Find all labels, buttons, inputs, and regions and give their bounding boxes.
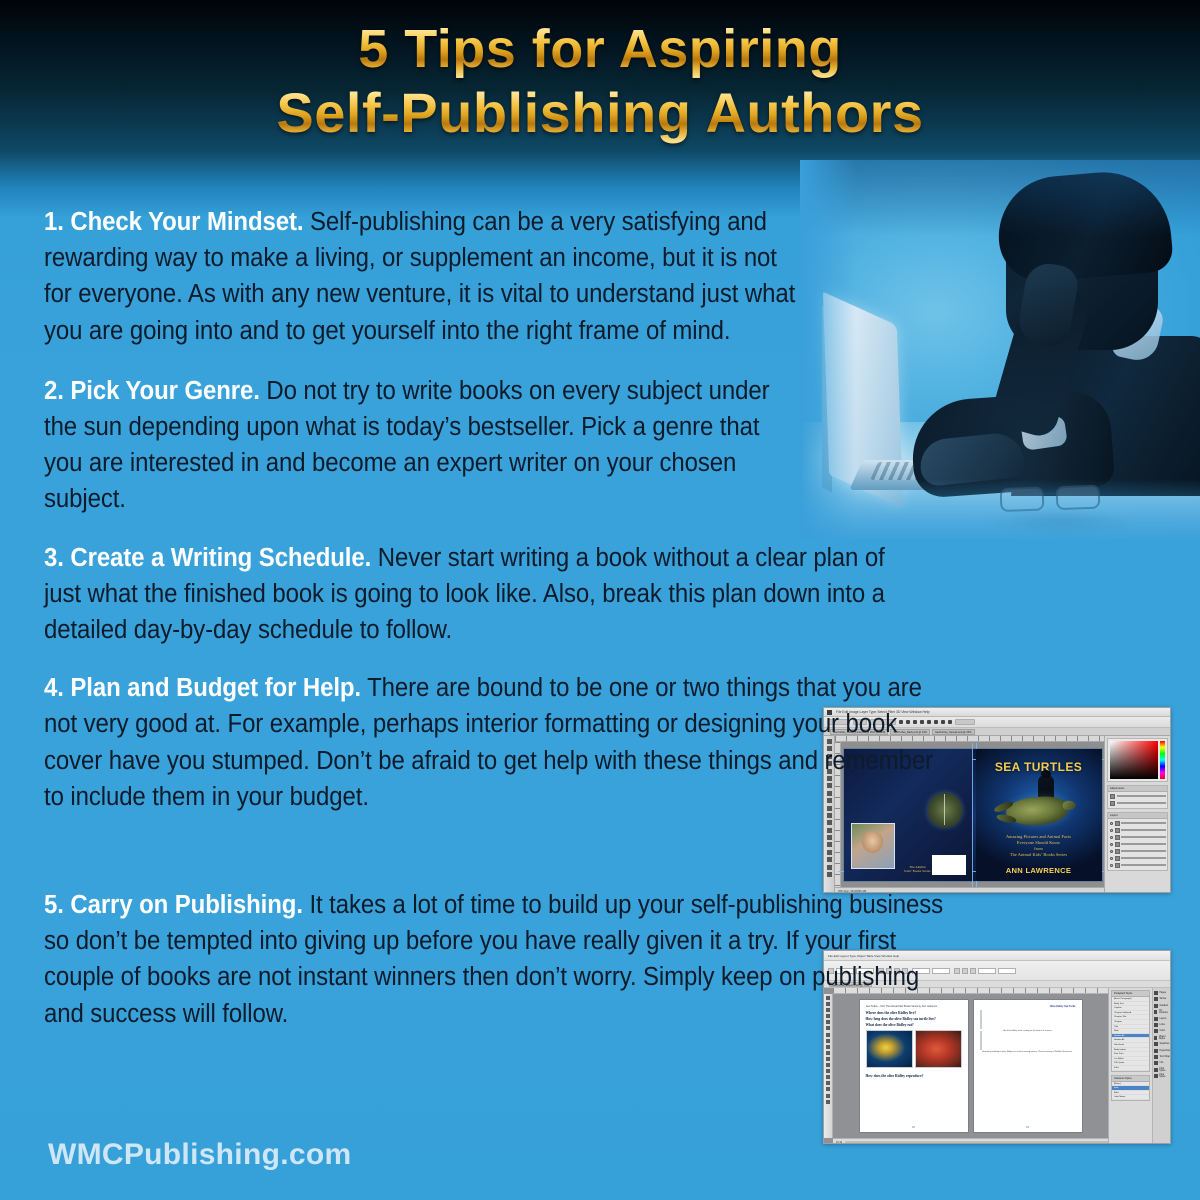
gradient-swatch-tool-icon[interactable] (826, 1075, 830, 1079)
eye-icon[interactable] (1110, 822, 1113, 825)
adjustment-name (1117, 802, 1167, 804)
layer-thumbnail (1115, 849, 1120, 854)
layer-name (1121, 829, 1166, 831)
dock-item-gradient[interactable]: Gradient (1153, 1004, 1170, 1008)
tip-item-4: 4. Plan and Budget for Help. There are b… (44, 670, 1014, 815)
layer-name (1121, 850, 1166, 852)
tip-3-heading: 3. Create a Writing Schedule. (44, 544, 371, 572)
layer-row[interactable] (1109, 862, 1166, 868)
adjustments-panel[interactable]: Adjustments (1107, 785, 1168, 809)
hyperlinks-icon (1154, 1049, 1158, 1053)
tip-item-2: 2. Pick Your Genre. Do not try to write … (44, 373, 1014, 518)
dock-item-hyperlinks[interactable]: Hyperlinks (1153, 1049, 1170, 1053)
tip-4-heading: 4. Plan and Budget for Help. (44, 674, 361, 702)
layer-thumbnail (1115, 863, 1120, 868)
tip-item-5: 5. Carry on Publishing. It takes a lot o… (44, 887, 1014, 1032)
dock-item-pages[interactable]: Pages (1153, 991, 1170, 995)
right-page-number: 19 (974, 1126, 1082, 1129)
layout-icon-dock[interactable]: Pages Stroke Gradient CC Libraries Layer… (1152, 988, 1170, 1144)
layer-thumbnail (1115, 856, 1120, 861)
adjustment-row[interactable] (1109, 800, 1166, 806)
layer-name (1121, 864, 1166, 866)
layers-icon (1154, 1017, 1158, 1021)
eye-icon[interactable] (1110, 857, 1113, 860)
left-page-heading-4: How does the olive Ridley reproduce? (866, 1074, 962, 1078)
paragraph-styles-panel[interactable]: Paragraph Styles [Basic Paragraph] Body … (1111, 990, 1150, 1072)
layer-name (1121, 843, 1166, 845)
dock-label: Gradient (1160, 1005, 1169, 1007)
dock-item-text-wrap[interactable]: Text Wrap (1153, 1055, 1170, 1059)
tip-item-3: 3. Create a Writing Schedule. Never star… (44, 540, 1014, 649)
layout-panel-column: Paragraph Styles [Basic Paragraph] Body … (1109, 988, 1152, 1144)
left-page-number: 18 (860, 1126, 968, 1129)
eyedropper-tool-icon[interactable] (826, 1087, 830, 1091)
tip-2-text: 2. Pick Your Genre. Do not try to write … (44, 373, 787, 518)
eye-icon[interactable] (1110, 864, 1113, 867)
dock-label: Pages (1160, 992, 1167, 994)
adjustment-name (1117, 795, 1167, 797)
left-page-image-caption (866, 1070, 962, 1072)
para-styles-icon (1154, 1074, 1158, 1078)
dock-item-object-styles[interactable]: Object Styles (1153, 1036, 1170, 1040)
adjustment-row[interactable] (1109, 793, 1166, 799)
text-wrap-icon (1154, 1055, 1158, 1059)
layer-thumbnail (1115, 828, 1120, 833)
paragraph-style-row[interactable]: Folio (1112, 1066, 1149, 1071)
layer-thumbnail (1115, 821, 1120, 826)
adjustment-thumb (1110, 794, 1115, 799)
dock-item-para-styles[interactable]: Para Styles (1153, 1074, 1170, 1078)
dock-item-color[interactable]: Color (1153, 1029, 1170, 1033)
layers-rows (1108, 819, 1167, 870)
tip-5-text: 5. Carry on Publishing. It takes a lot o… (44, 887, 956, 1032)
info-icon (1154, 1061, 1158, 1065)
tip-item-1: 1. Check Your Mindset. Self-publishing c… (44, 204, 1014, 349)
page-title: 5 Tips for Aspiring Self-Publishing Auth… (0, 18, 1200, 146)
title-line-1: 5 Tips for Aspiring (0, 18, 1200, 81)
color-picker-panel[interactable] (1107, 738, 1168, 782)
character-styles-panel[interactable]: Character Styles [None] Italic Bold Lati… (1111, 1075, 1150, 1101)
layers-panel[interactable]: Layers (1107, 812, 1168, 871)
dock-label: Layers (1160, 1018, 1167, 1020)
dock-item-char-styles[interactable]: Char Styles (1153, 1068, 1170, 1072)
layout-panel-dock: Paragraph Styles [Basic Paragraph] Body … (1108, 988, 1170, 1144)
adjustment-thumb (1110, 801, 1115, 806)
dock-item-swatches[interactable]: Swatches (1153, 1042, 1170, 1046)
dock-label: Color (1160, 1030, 1166, 1032)
page-indicator[interactable]: 18-19 (836, 1141, 842, 1144)
character-style-row[interactable]: Latin Name (1112, 1095, 1149, 1100)
turtle-head (1062, 800, 1076, 810)
dock-label: Info (1160, 1062, 1164, 1064)
dock-label: Hyperlinks (1159, 1050, 1170, 1052)
scissors-tool-icon[interactable] (826, 1063, 830, 1067)
layer-row[interactable] (1109, 827, 1166, 833)
tip-4-text: 4. Plan and Budget for Help. There are b… (44, 670, 946, 815)
dock-item-libraries[interactable]: CC Libraries (1153, 1010, 1170, 1014)
dock-item-stroke[interactable]: Stroke (1153, 997, 1170, 1001)
sea-turtle-photo (1005, 794, 1069, 826)
dock-label: Text Wrap (1160, 1056, 1170, 1058)
infographic-poster: 5 Tips for Aspiring Self-Publishing Auth… (0, 0, 1200, 1200)
layer-thumbnail (1115, 842, 1120, 847)
brand-footer: WMCPublishing.com (48, 1138, 351, 1172)
free-transform-tool-icon[interactable] (826, 1069, 830, 1073)
zoom-tool-icon[interactable] (826, 1100, 830, 1104)
layer-name (1121, 822, 1166, 824)
stroke-icon (1154, 997, 1158, 1001)
dock-item-layers[interactable]: Layers (1153, 1017, 1170, 1021)
dock-label: Links (1160, 1024, 1165, 1026)
layer-name (1121, 857, 1166, 859)
layer-thumbnail (1115, 835, 1120, 840)
eye-icon[interactable] (1110, 829, 1113, 832)
dock-item-info[interactable]: Info (1153, 1061, 1170, 1065)
tip-2-heading: 2. Pick Your Genre. (44, 377, 260, 405)
layer-row[interactable] (1109, 820, 1166, 826)
eye-icon[interactable] (1110, 850, 1113, 853)
tip-1-heading: 1. Check Your Mindset. (44, 208, 303, 236)
dock-label: CC Libraries (1159, 1010, 1170, 1014)
dock-label: Object Styles (1159, 1036, 1170, 1040)
pages-icon (1154, 991, 1158, 995)
layer-row[interactable] (1109, 834, 1166, 840)
object-styles-icon (1154, 1036, 1157, 1040)
tip-1-text: 1. Check Your Mindset. Self-publishing c… (44, 204, 796, 349)
editor-panel-dock: Adjustments Layers (1104, 736, 1170, 893)
layer-row[interactable] (1109, 841, 1166, 847)
dock-label: Swatches (1160, 1043, 1170, 1045)
dock-item-links[interactable]: Links (1153, 1023, 1170, 1027)
eye-icon[interactable] (1110, 843, 1113, 846)
hue-slider[interactable] (1160, 741, 1165, 779)
char-styles-icon (1154, 1068, 1158, 1072)
note-tool-icon[interactable] (826, 1081, 830, 1085)
links-icon (1154, 1023, 1158, 1027)
color-field[interactable] (1110, 741, 1158, 779)
cover-subtitle-line-4: The Animal Kids’ Books Series (1010, 852, 1067, 857)
layer-name (1121, 836, 1166, 838)
eye-icon[interactable] (1110, 836, 1113, 839)
libraries-icon (1154, 1010, 1157, 1014)
cover-subtitle-line-2: Everyone Should Know (1017, 840, 1060, 845)
gradient-icon (1154, 1004, 1158, 1008)
swatches-icon (1154, 1042, 1158, 1046)
cover-subtitle-line-1: Amazing Pictures and Animal Facts (1006, 834, 1071, 839)
adjustments-rows (1108, 792, 1167, 808)
color-icon (1154, 1029, 1158, 1033)
layer-row[interactable] (1109, 848, 1166, 854)
tips-list: 1. Check Your Mindset. Self-publishing c… (44, 204, 1014, 1052)
tip-5-heading: 5. Carry on Publishing. (44, 891, 303, 919)
hand-tool-icon[interactable] (826, 1094, 830, 1098)
dock-label: Stroke (1160, 998, 1167, 1000)
dock-label: Char Styles (1159, 1068, 1170, 1072)
rectangle-tool-icon[interactable] (826, 1057, 830, 1061)
layer-row[interactable] (1109, 855, 1166, 861)
cover-subtitle-line-3: from (1034, 846, 1043, 851)
dock-label: Para Styles (1159, 1074, 1170, 1078)
tip-3-text: 3. Create a Writing Schedule. Never star… (44, 540, 904, 649)
title-line-2: Self-Publishing Authors (0, 81, 1200, 146)
